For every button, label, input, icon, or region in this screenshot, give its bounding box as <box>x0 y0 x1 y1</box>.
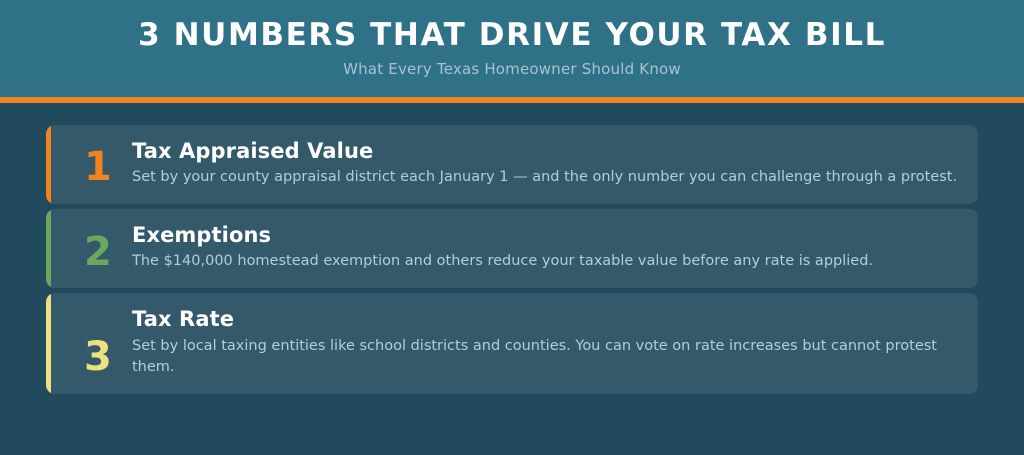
card-title: Tax Rate <box>132 307 958 332</box>
accent-bar-green <box>46 209 51 288</box>
list-item: 2 Exemptions The $140,000 homestead exem… <box>46 209 978 288</box>
card-body: Tax Appraised Value Set by your county a… <box>130 139 958 188</box>
card-description: The $140,000 homestead exemption and oth… <box>132 251 958 272</box>
card-number: 3 <box>84 339 130 378</box>
card-title: Tax Appraised Value <box>132 139 958 164</box>
card-list: 1 Tax Appraised Value Set by your county… <box>0 103 1024 394</box>
list-item: 3 Tax Rate Set by local taxing entities … <box>46 293 978 393</box>
card-description: Set by local taxing entities like school… <box>132 336 958 378</box>
card-title: Exemptions <box>132 223 958 248</box>
accent-bar-yellow <box>46 293 51 393</box>
card-description: Set by your county appraisal district ea… <box>132 167 958 188</box>
page-subtitle: What Every Texas Homeowner Should Know <box>20 60 1004 78</box>
accent-bar-orange <box>46 125 51 204</box>
list-item: 1 Tax Appraised Value Set by your county… <box>46 125 978 204</box>
card-body: Exemptions The $140,000 homestead exempt… <box>130 223 958 272</box>
card-body: Tax Rate Set by local taxing entities li… <box>130 307 958 377</box>
card-number: 1 <box>84 149 130 188</box>
card-number: 2 <box>84 234 130 273</box>
header-banner: 3 NUMBERS THAT DRIVE YOUR TAX BILL What … <box>0 0 1024 103</box>
page-title: 3 NUMBERS THAT DRIVE YOUR TAX BILL <box>20 18 1004 54</box>
infographic-page: 3 NUMBERS THAT DRIVE YOUR TAX BILL What … <box>0 0 1024 455</box>
